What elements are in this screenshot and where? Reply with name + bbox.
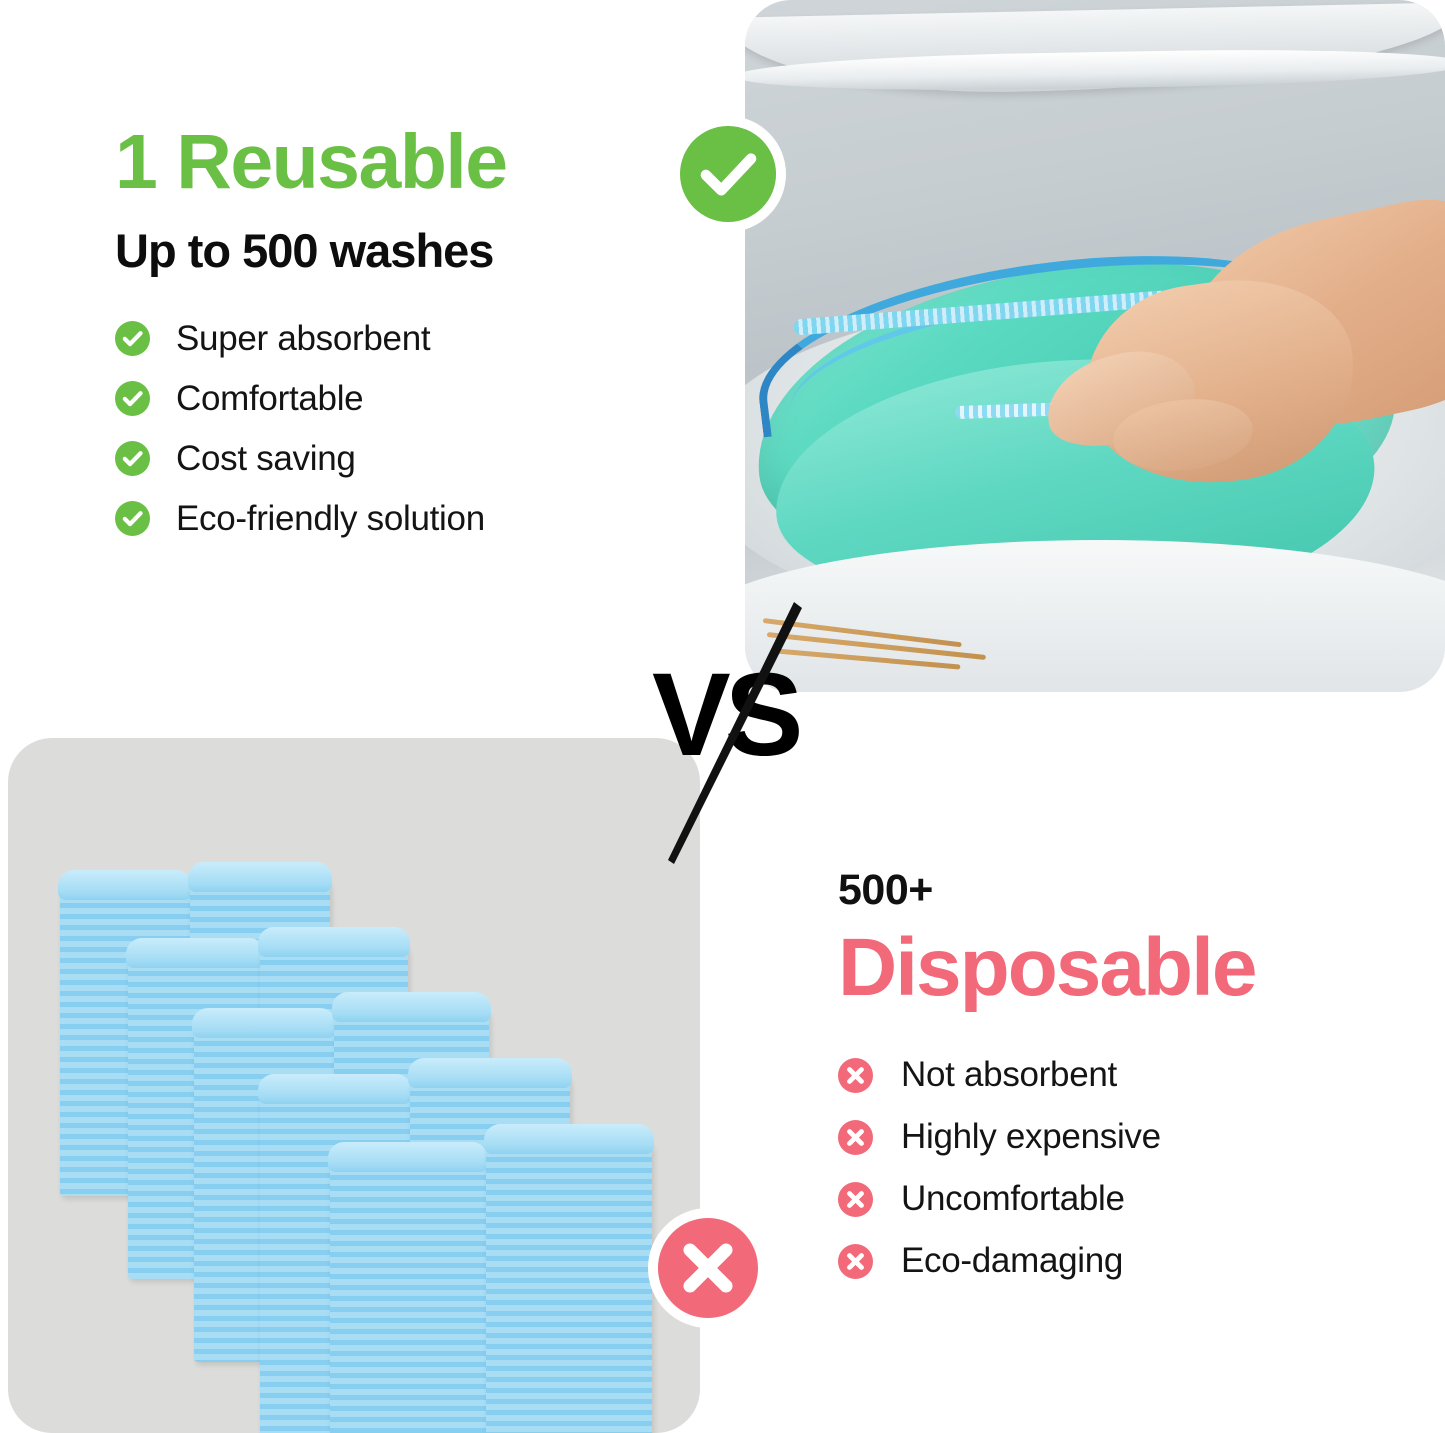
list-item-label: Uncomfortable [901,1179,1125,1219]
x-circle-icon [838,1058,873,1093]
reusable-feature-list: Super absorbent Comfortable Cost saving … [115,319,695,539]
x-circle-icon [838,1182,873,1217]
x-circle-icon [838,1120,873,1155]
pad-stack [330,1158,486,1433]
list-item: Eco-damaging [838,1241,1398,1281]
list-item-label: Cost saving [176,439,356,479]
page-title-disposable: Disposable [838,927,1398,1009]
list-item-label: Eco-friendly solution [176,499,485,539]
list-item: Cost saving [115,439,695,479]
subtitle-washes: Up to 500 washes [115,225,695,277]
list-item-label: Eco-damaging [901,1241,1123,1281]
pad-stack [486,1140,652,1433]
list-item-label: Not absorbent [901,1055,1117,1095]
disposable-feature-list: Not absorbent Highly expensive Uncomfort… [838,1055,1398,1281]
list-item: Uncomfortable [838,1179,1398,1219]
list-item: Eco-friendly solution [115,499,695,539]
list-item: Highly expensive [838,1117,1398,1157]
x-circle-icon [658,1218,758,1318]
page-title-reusable: 1 Reusable [115,124,695,201]
x-circle-icon [838,1244,873,1279]
list-item-label: Super absorbent [176,319,430,359]
disposable-pads-photo [8,738,700,1433]
list-item: Comfortable [115,379,695,419]
disposable-count: 500+ [838,866,1398,915]
check-circle-icon [115,441,150,476]
check-circle-icon [115,381,150,416]
check-circle-icon [115,321,150,356]
reusable-text-block: 1 Reusable Up to 500 washes Super absorb… [115,124,695,559]
list-item: Super absorbent [115,319,695,359]
list-item-label: Comfortable [176,379,363,419]
list-item-label: Highly expensive [901,1117,1161,1157]
check-circle-icon [115,501,150,536]
list-item: Not absorbent [838,1055,1398,1095]
comparison-infographic: 1 Reusable Up to 500 washes Super absorb… [0,0,1445,1433]
vs-divider: VS [648,598,818,868]
diagonal-slash-icon [648,598,818,868]
washer-basin-shape [745,540,1445,692]
reusable-pad-photo [745,0,1445,692]
disposable-text-block: 500+ Disposable Not absorbent Highly exp… [838,866,1398,1303]
